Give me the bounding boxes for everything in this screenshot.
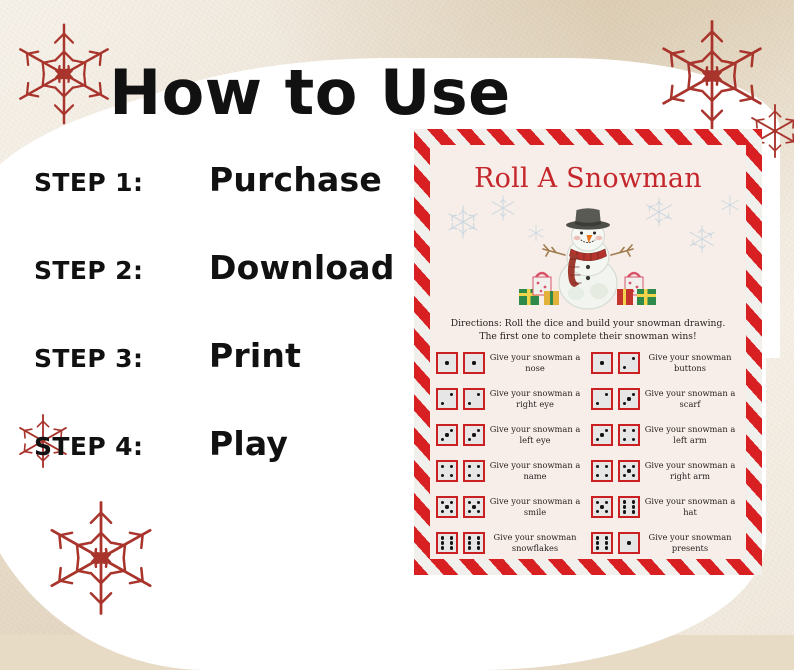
die-pip: [472, 505, 475, 508]
dice-rule-text: Give your snowman snowflakes: [485, 532, 585, 554]
die-pip: [450, 501, 453, 504]
dice-rule-text: Give your snowman a name: [485, 460, 585, 482]
die-pip: [450, 393, 453, 396]
die-pip: [596, 536, 599, 539]
die-pip: [450, 510, 453, 513]
dice-rule-text: Give your snowman a hat: [640, 496, 740, 518]
die-pip: [623, 474, 626, 477]
step-label: STEP 4:: [34, 432, 209, 461]
die-pip: [468, 546, 471, 549]
dice-rule-text: Give your snowman a left eye: [485, 424, 585, 446]
die-pip: [472, 433, 475, 436]
die-pip: [623, 505, 626, 508]
die-pip: [596, 510, 599, 513]
dice-pair: [591, 424, 640, 446]
die-face-1: [436, 352, 458, 374]
step-row: STEP 1: Purchase: [34, 160, 414, 248]
gift-group-left: [519, 273, 559, 305]
die-pip: [623, 366, 626, 369]
die-pip: [627, 397, 630, 400]
step-label: STEP 3:: [34, 344, 209, 373]
step-label: STEP 1:: [34, 168, 209, 197]
die-pip: [468, 465, 471, 468]
dice-pair: [436, 532, 485, 554]
die-pip: [596, 465, 599, 468]
die-pip: [445, 361, 448, 364]
dice-pair: [436, 352, 485, 374]
die-pip: [623, 500, 626, 503]
die-pip: [596, 541, 599, 544]
dice-rule-cell: Give your snowman a name: [436, 453, 585, 489]
die-pip: [468, 536, 471, 539]
dice-pair: [591, 460, 640, 482]
dice-rule-text: Give your snowman buttons: [640, 352, 740, 374]
dice-rule-text: Give your snowman a left arm: [640, 424, 740, 446]
die-face-1: [618, 532, 640, 554]
die-pip: [472, 361, 475, 364]
dice-rule-cell: Give your snowman a scarf: [591, 381, 740, 417]
die-face-2: [618, 352, 640, 374]
die-pip: [477, 429, 480, 432]
die-pip: [477, 541, 480, 544]
step-value: Download: [209, 248, 395, 287]
die-pip: [632, 429, 635, 432]
dice-rule-text: Give your snowman a right arm: [640, 460, 740, 482]
die-pip: [468, 438, 471, 441]
die-face-4: [618, 424, 640, 446]
die-pip: [623, 510, 626, 513]
snowflake-icon-bottom-left-large: [38, 495, 164, 621]
page-title: How to Use: [0, 56, 620, 129]
dice-rule-text: Give your snowman a right eye: [485, 388, 585, 410]
die-pip: [477, 474, 480, 477]
die-pip: [445, 433, 448, 436]
die-pip: [477, 465, 480, 468]
die-pip: [600, 433, 603, 436]
dice-rule-text: Give your snowman presents: [640, 532, 740, 554]
die-pip: [632, 474, 635, 477]
die-pip: [441, 465, 444, 468]
die-pip: [605, 429, 608, 432]
dice-rule-cell: Give your snowman a left arm: [591, 417, 740, 453]
die-pip: [596, 546, 599, 549]
die-face-5: [591, 496, 613, 518]
die-pip: [605, 546, 608, 549]
dice-pair: [436, 460, 485, 482]
die-pip: [441, 510, 444, 513]
die-pip: [468, 501, 471, 504]
die-face-6: [463, 532, 485, 554]
die-pip: [605, 536, 608, 539]
dice-rule-text: Give your snowman a nose: [485, 352, 585, 374]
die-pip: [605, 465, 608, 468]
step-row: STEP 3: Print: [34, 336, 414, 424]
die-face-4: [436, 460, 458, 482]
dice-pair: [591, 388, 640, 410]
step-value: Print: [209, 336, 301, 375]
dice-rule-cell: Give your snowman a nose: [436, 345, 585, 381]
snowman-illustration: [513, 205, 663, 315]
die-pip: [441, 536, 444, 539]
die-pip: [450, 536, 453, 539]
die-pip: [632, 510, 635, 513]
dice-pair: [591, 496, 640, 518]
die-pip: [468, 402, 471, 405]
die-face-3: [618, 388, 640, 410]
die-face-6: [591, 532, 613, 554]
die-pip: [468, 541, 471, 544]
die-pip: [450, 429, 453, 432]
step-label: STEP 2:: [34, 256, 209, 285]
die-face-2: [591, 388, 613, 410]
die-face-5: [436, 496, 458, 518]
die-pip: [627, 541, 630, 544]
dice-rule-cell: Give your snowman snowflakes: [436, 525, 585, 559]
dice-rule-cell: Give your snowman presents: [591, 525, 740, 559]
gift-group-right: [617, 273, 656, 305]
die-face-6: [618, 496, 640, 518]
dice-rule-cell: Give your snowman a hat: [591, 489, 740, 525]
die-face-3: [463, 424, 485, 446]
die-pip: [441, 474, 444, 477]
dice-pair: [436, 388, 485, 410]
card-inner-surface: Roll A Snowman: [430, 145, 746, 559]
die-pip: [596, 501, 599, 504]
die-face-4: [463, 460, 485, 482]
die-pip: [441, 541, 444, 544]
dice-rule-cell: Give your snowman a left eye: [436, 417, 585, 453]
die-pip: [450, 541, 453, 544]
die-pip: [450, 546, 453, 549]
die-pip: [596, 438, 599, 441]
step-row: STEP 4: Play: [34, 424, 414, 512]
directions-text: Directions: Roll the dice and build your…: [444, 317, 732, 344]
die-pip: [468, 510, 471, 513]
die-pip: [477, 501, 480, 504]
die-pip: [623, 429, 626, 432]
die-pip: [632, 500, 635, 503]
die-pip: [605, 541, 608, 544]
die-pip: [627, 469, 630, 472]
die-pip: [441, 501, 444, 504]
steps-list: STEP 1: Purchase STEP 2: Download STEP 3…: [34, 160, 414, 512]
die-pip: [468, 474, 471, 477]
dice-rule-cell: Give your snowman a right arm: [591, 453, 740, 489]
die-pip: [623, 465, 626, 468]
snowflake-icon-card-1: [444, 203, 482, 241]
die-face-1: [591, 352, 613, 374]
die-face-3: [436, 424, 458, 446]
die-pip: [632, 505, 635, 508]
die-pip: [477, 536, 480, 539]
die-pip: [441, 438, 444, 441]
die-pip: [600, 505, 603, 508]
dice-pair: [591, 352, 640, 374]
die-pip: [477, 510, 480, 513]
die-pip: [632, 357, 635, 360]
die-pip: [450, 474, 453, 477]
die-pip: [441, 402, 444, 405]
die-pip: [605, 474, 608, 477]
die-pip: [450, 465, 453, 468]
roll-a-snowman-card: Roll A Snowman: [414, 129, 762, 575]
die-face-3: [591, 424, 613, 446]
snowflake-icon-card-6: [718, 193, 742, 217]
die-face-4: [591, 460, 613, 482]
die-pip: [445, 505, 448, 508]
die-face-5: [463, 496, 485, 518]
die-pip: [623, 438, 626, 441]
die-pip: [477, 393, 480, 396]
die-pip: [596, 402, 599, 405]
die-pip: [605, 510, 608, 513]
dice-rule-cell: Give your snowman buttons: [591, 345, 740, 381]
dice-rule-text: Give your snowman a smile: [485, 496, 585, 518]
die-pip: [623, 402, 626, 405]
die-face-1: [463, 352, 485, 374]
die-pip: [632, 393, 635, 396]
step-value: Purchase: [209, 160, 382, 199]
step-value: Play: [209, 424, 288, 463]
dice-rule-cell: Give your snowman a right eye: [436, 381, 585, 417]
die-pip: [600, 361, 603, 364]
dice-pair: [436, 496, 485, 518]
die-pip: [441, 546, 444, 549]
die-pip: [596, 474, 599, 477]
dice-rule-text: Give your snowman a scarf: [640, 388, 740, 410]
die-pip: [605, 501, 608, 504]
die-face-6: [436, 532, 458, 554]
snowflake-icon-card-5: [686, 223, 718, 255]
die-face-2: [436, 388, 458, 410]
dice-pair: [436, 424, 485, 446]
die-pip: [477, 546, 480, 549]
die-pip: [632, 438, 635, 441]
die-face-2: [463, 388, 485, 410]
card-title: Roll A Snowman: [430, 163, 746, 194]
step-row: STEP 2: Download: [34, 248, 414, 336]
die-face-5: [618, 460, 640, 482]
die-pip: [605, 393, 608, 396]
dice-rules-table: Give your snowman a noseGive your snowma…: [436, 345, 740, 559]
dice-rule-cell: Give your snowman a smile: [436, 489, 585, 525]
dice-pair: [591, 532, 640, 554]
die-pip: [632, 465, 635, 468]
